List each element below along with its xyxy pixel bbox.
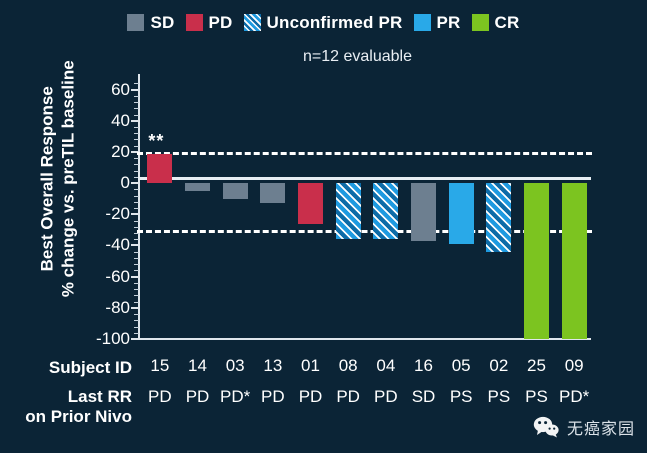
plot-area: **: [139, 74, 591, 339]
y-tick-label: -100: [68, 330, 130, 347]
subtitle-text: n=12 evaluable: [303, 48, 412, 65]
y-tick-label: 40: [68, 112, 130, 129]
subject-id-cell: 09: [557, 357, 591, 374]
bar-subject-08[interactable]: [336, 183, 361, 239]
last-rr-cell: PS: [482, 388, 516, 405]
y-tick-label: -60: [68, 268, 130, 285]
last-rr-cell: PD: [331, 388, 365, 405]
subject-id-cell: 04: [369, 357, 403, 374]
last-rr-row: PDPDPD*PDPDPDPDSDPSPSPSPD*: [139, 388, 591, 410]
last-rr-cell: PS: [520, 388, 554, 405]
subject-id-row-header: Subject ID: [14, 358, 132, 378]
legend-item-pd[interactable]: PD: [186, 14, 233, 31]
legend-item-cr[interactable]: CR: [472, 14, 520, 31]
y-tick-major: [131, 244, 139, 246]
legend-item-pr[interactable]: PR: [414, 14, 461, 31]
subject-id-cell: 01: [294, 357, 328, 374]
legend-label: SD: [150, 14, 174, 31]
y-tick-label: 60: [68, 81, 130, 98]
bar-subject-14[interactable]: [185, 183, 210, 191]
bar-subject-05[interactable]: [449, 183, 474, 244]
last-rr-row-header: Last RR on Prior Nivo: [8, 387, 132, 428]
last-rr-cell: PD*: [218, 388, 252, 405]
y-tick-label: -40: [68, 236, 130, 253]
subject-id-cell: 14: [181, 357, 215, 374]
legend-swatch-pr: [414, 14, 431, 31]
bar-subject-09[interactable]: [562, 183, 587, 339]
chart-legend: SDPDUnconfirmed PRPRCR: [0, 14, 647, 31]
last-rr-cell: PD: [294, 388, 328, 405]
legend-label: Unconfirmed PR: [267, 14, 403, 31]
y-tick-label: -20: [68, 205, 130, 222]
chart-subtitle: n=12 evaluable: [0, 48, 647, 66]
subject-id-cell: 08: [331, 357, 365, 374]
bar-subject-03[interactable]: [223, 183, 248, 199]
last-rr-cell: PD: [181, 388, 215, 405]
subject-id-cell: 03: [218, 357, 252, 374]
legend-swatch-pd: [186, 14, 203, 31]
y-tick-major: [131, 89, 139, 91]
bar-subject-16[interactable]: [411, 183, 436, 241]
watermark: 无癌家园: [533, 415, 635, 439]
subject-id-row: 151403130108041605022509: [139, 357, 591, 379]
legend-swatch-sd: [127, 14, 144, 31]
waterfall-chart: SDPDUnconfirmed PRPRCR n=12 evaluable Be…: [0, 0, 647, 453]
legend-label: PR: [437, 14, 461, 31]
y-tick-major: [131, 276, 139, 278]
legend-swatch-unconfirmed-pr: [244, 14, 261, 31]
subject-id-cell: 02: [482, 357, 516, 374]
subject-id-cell: 16: [407, 357, 441, 374]
y-tick-major: [131, 213, 139, 215]
y-tick-major: [131, 307, 139, 309]
legend-label: PD: [209, 14, 233, 31]
bar-subject-01[interactable]: [298, 183, 323, 224]
last-rr-cell: PD*: [557, 388, 591, 405]
bar-subject-13[interactable]: [260, 183, 285, 203]
y-tick-label: -80: [68, 299, 130, 316]
last-rr-cell: SD: [407, 388, 441, 405]
bar-series: **: [139, 74, 591, 339]
legend-item-unconfirmed-pr[interactable]: Unconfirmed PR: [244, 14, 403, 31]
y-tick-major: [131, 338, 139, 340]
last-rr-cell: PD: [256, 388, 290, 405]
last-rr-cell: PD: [369, 388, 403, 405]
significance-marker: **: [148, 132, 164, 150]
subject-id-cell: 05: [444, 357, 478, 374]
wechat-icon: [533, 416, 559, 438]
watermark-text: 无癌家园: [567, 415, 635, 439]
subject-id-cell: 13: [256, 357, 290, 374]
last-rr-cell: PS: [444, 388, 478, 405]
y-tick-major: [131, 120, 139, 122]
y-tick-label: 0: [68, 174, 130, 191]
y-tick-major: [131, 182, 139, 184]
y-tick-label: 20: [68, 143, 130, 160]
bar-subject-02[interactable]: [486, 183, 511, 252]
subject-id-cell: 25: [520, 357, 554, 374]
legend-swatch-cr: [472, 14, 489, 31]
bar-subject-25[interactable]: [524, 183, 549, 339]
subject-id-cell: 15: [143, 357, 177, 374]
legend-label: CR: [495, 14, 520, 31]
legend-item-sd[interactable]: SD: [127, 14, 174, 31]
bar-subject-04[interactable]: [373, 183, 398, 239]
bar-subject-15[interactable]: [147, 154, 172, 184]
last-rr-cell: PD: [143, 388, 177, 405]
